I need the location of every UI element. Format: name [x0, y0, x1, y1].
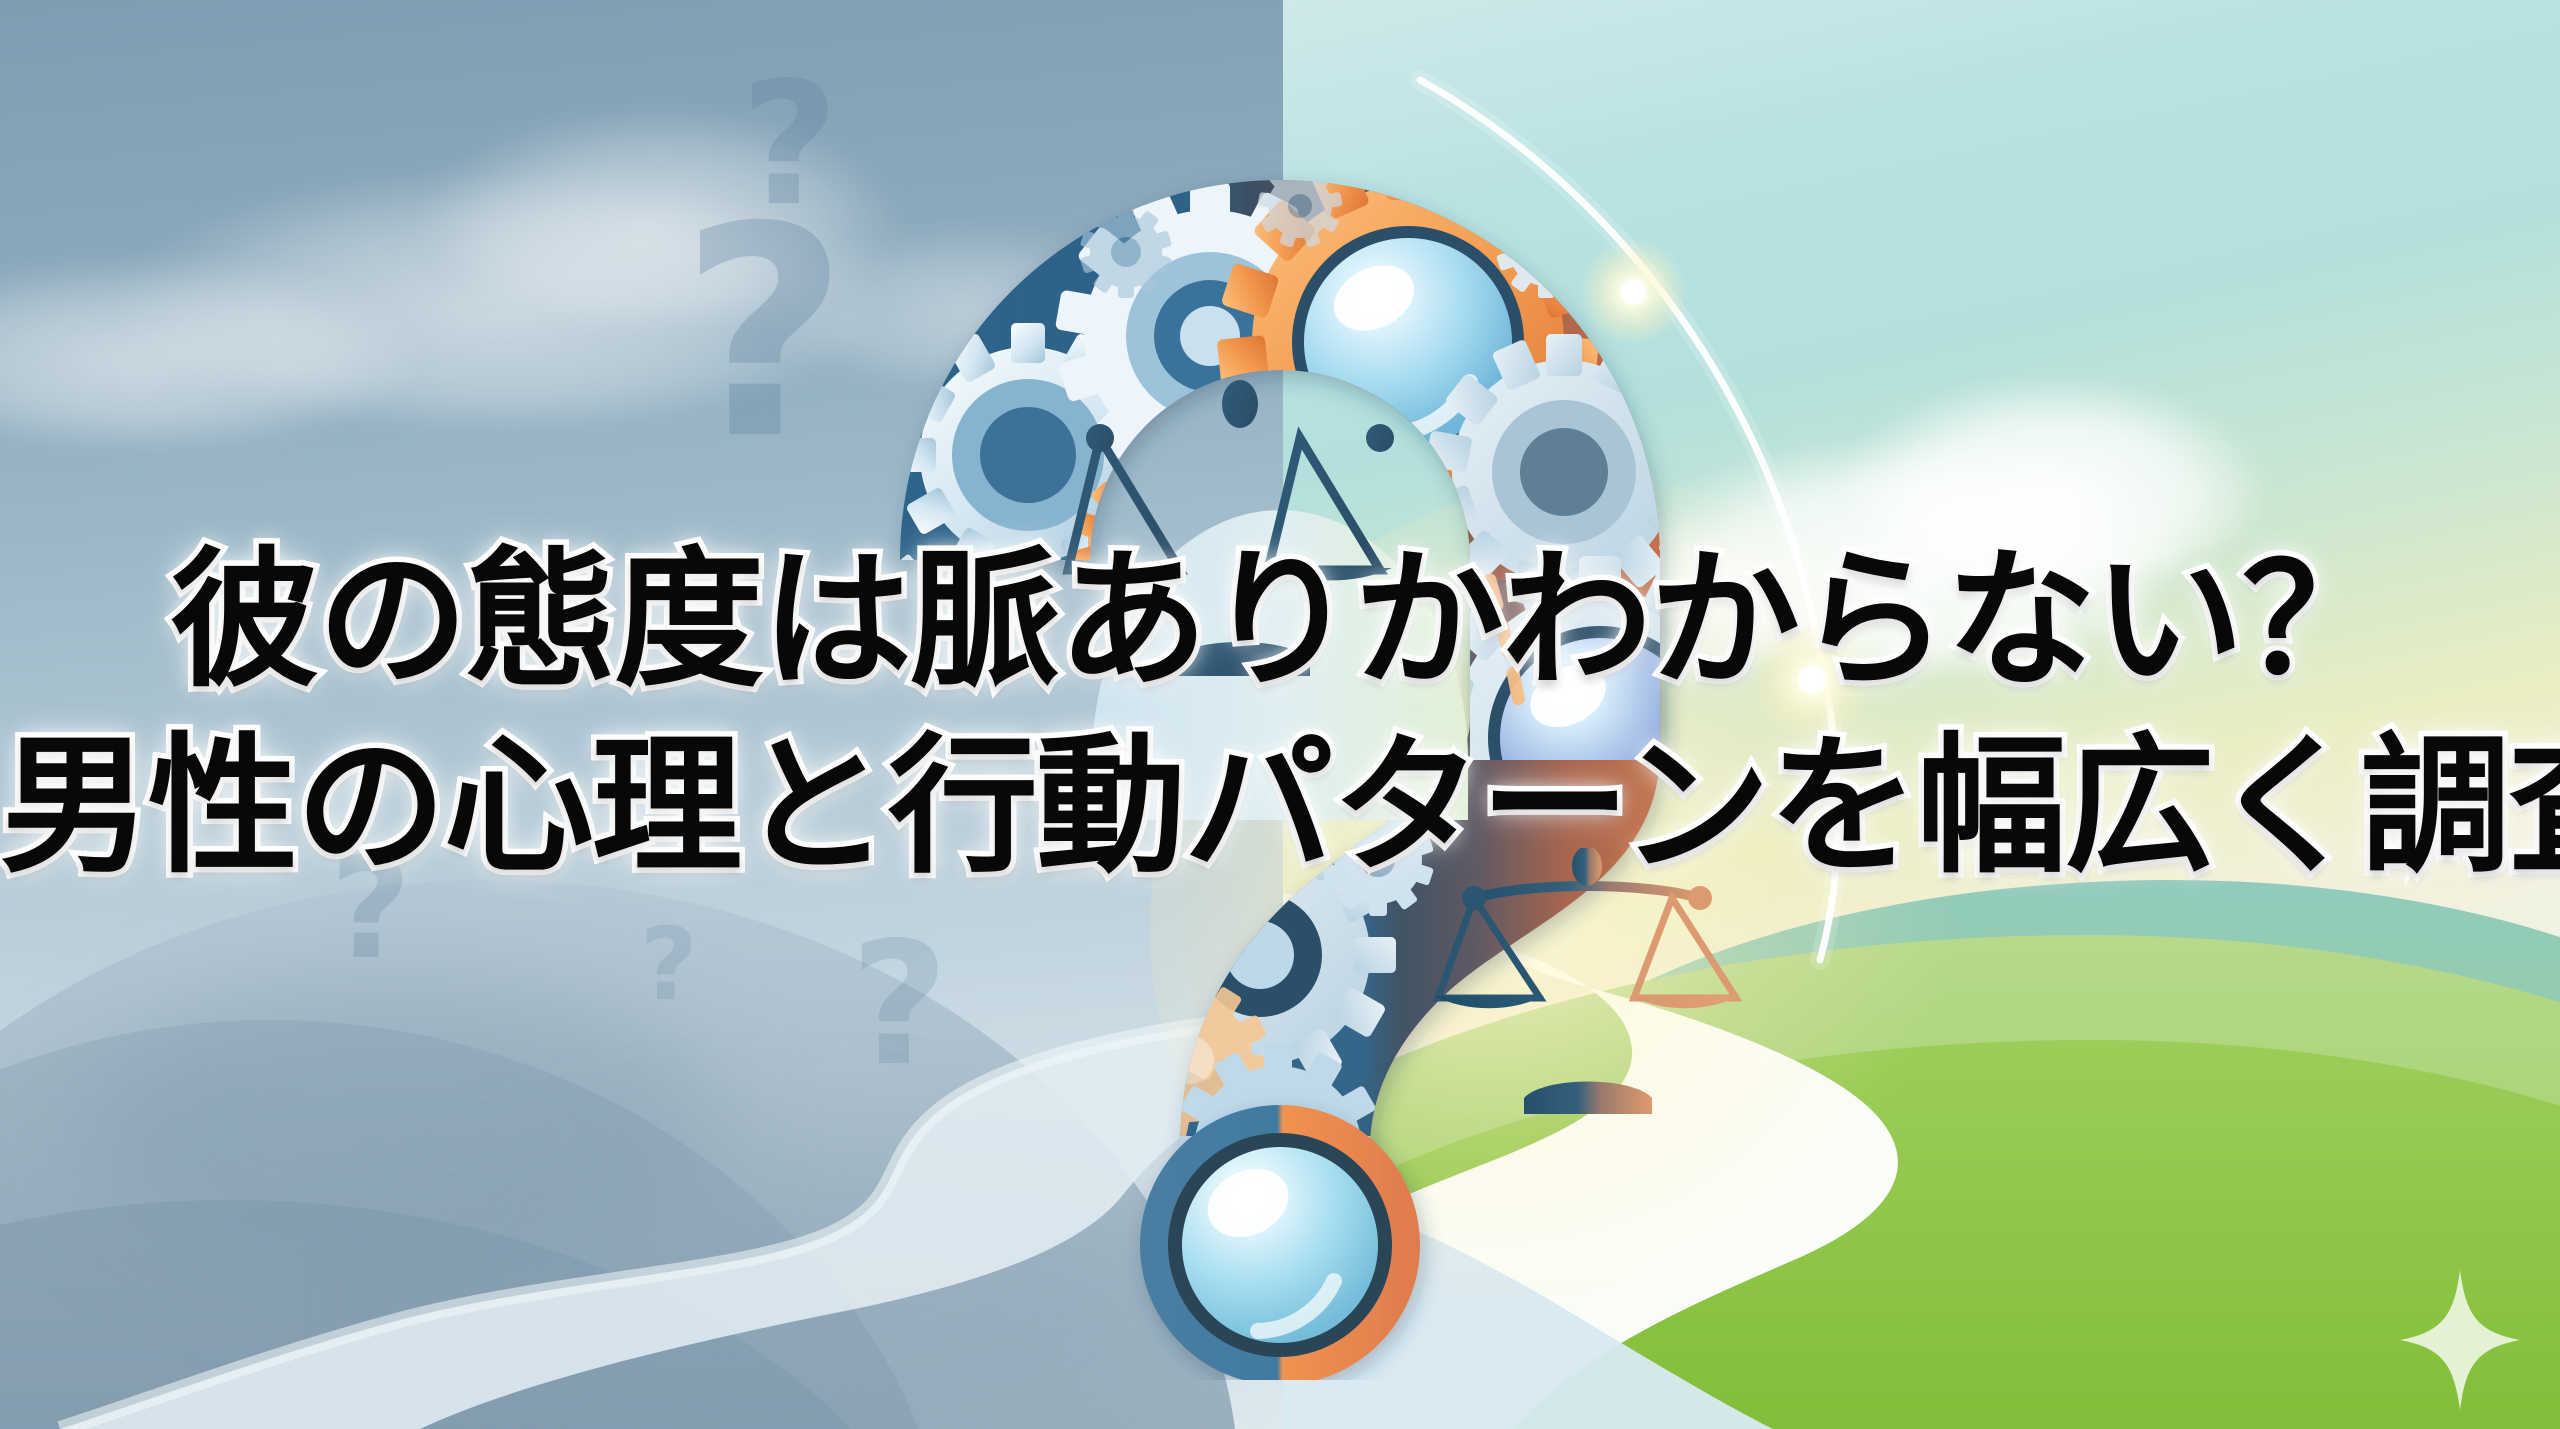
sparkle-star	[2400, 1270, 2520, 1410]
bg-question-mark-2: ?	[680, 190, 848, 480]
title-line-2: 男性の心理と行動パターンを幅広く調査！	[0, 714, 2560, 900]
banner-title: 彼の態度は脈ありかわからない？ 男性の心理と行動パターンを幅広く調査！	[0, 528, 2560, 900]
bg-question-mark-5: ?	[640, 915, 698, 1015]
banner-image: ? ? ? ? ?	[0, 0, 2560, 1429]
title-line-1: 彼の態度は脈ありかわからない？	[0, 528, 2560, 714]
question-mark-dot	[1140, 1105, 1420, 1380]
